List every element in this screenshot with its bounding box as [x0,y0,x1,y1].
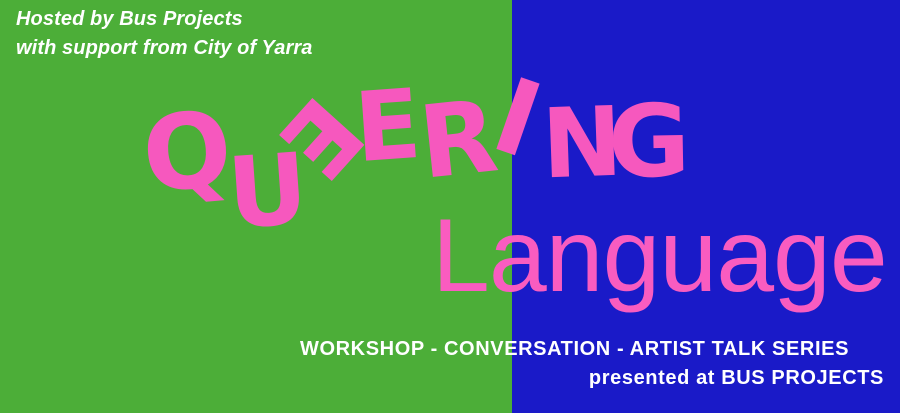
credits-block: Hosted by Bus Projects with support from… [16,5,312,63]
poster-canvas: Hosted by Bus Projects with support from… [0,0,900,413]
tagline-series-line: WORKSHOP - CONVERSATION - ARTIST TALK SE… [300,336,849,362]
credits-line-support-from: with support from City of Yarra [16,34,312,63]
tagline-presented-line: presented at BUS PROJECTS [589,365,884,391]
credits-line-hosted-by: Hosted by Bus Projects [16,5,312,34]
language-wordmark: Language [432,204,887,308]
